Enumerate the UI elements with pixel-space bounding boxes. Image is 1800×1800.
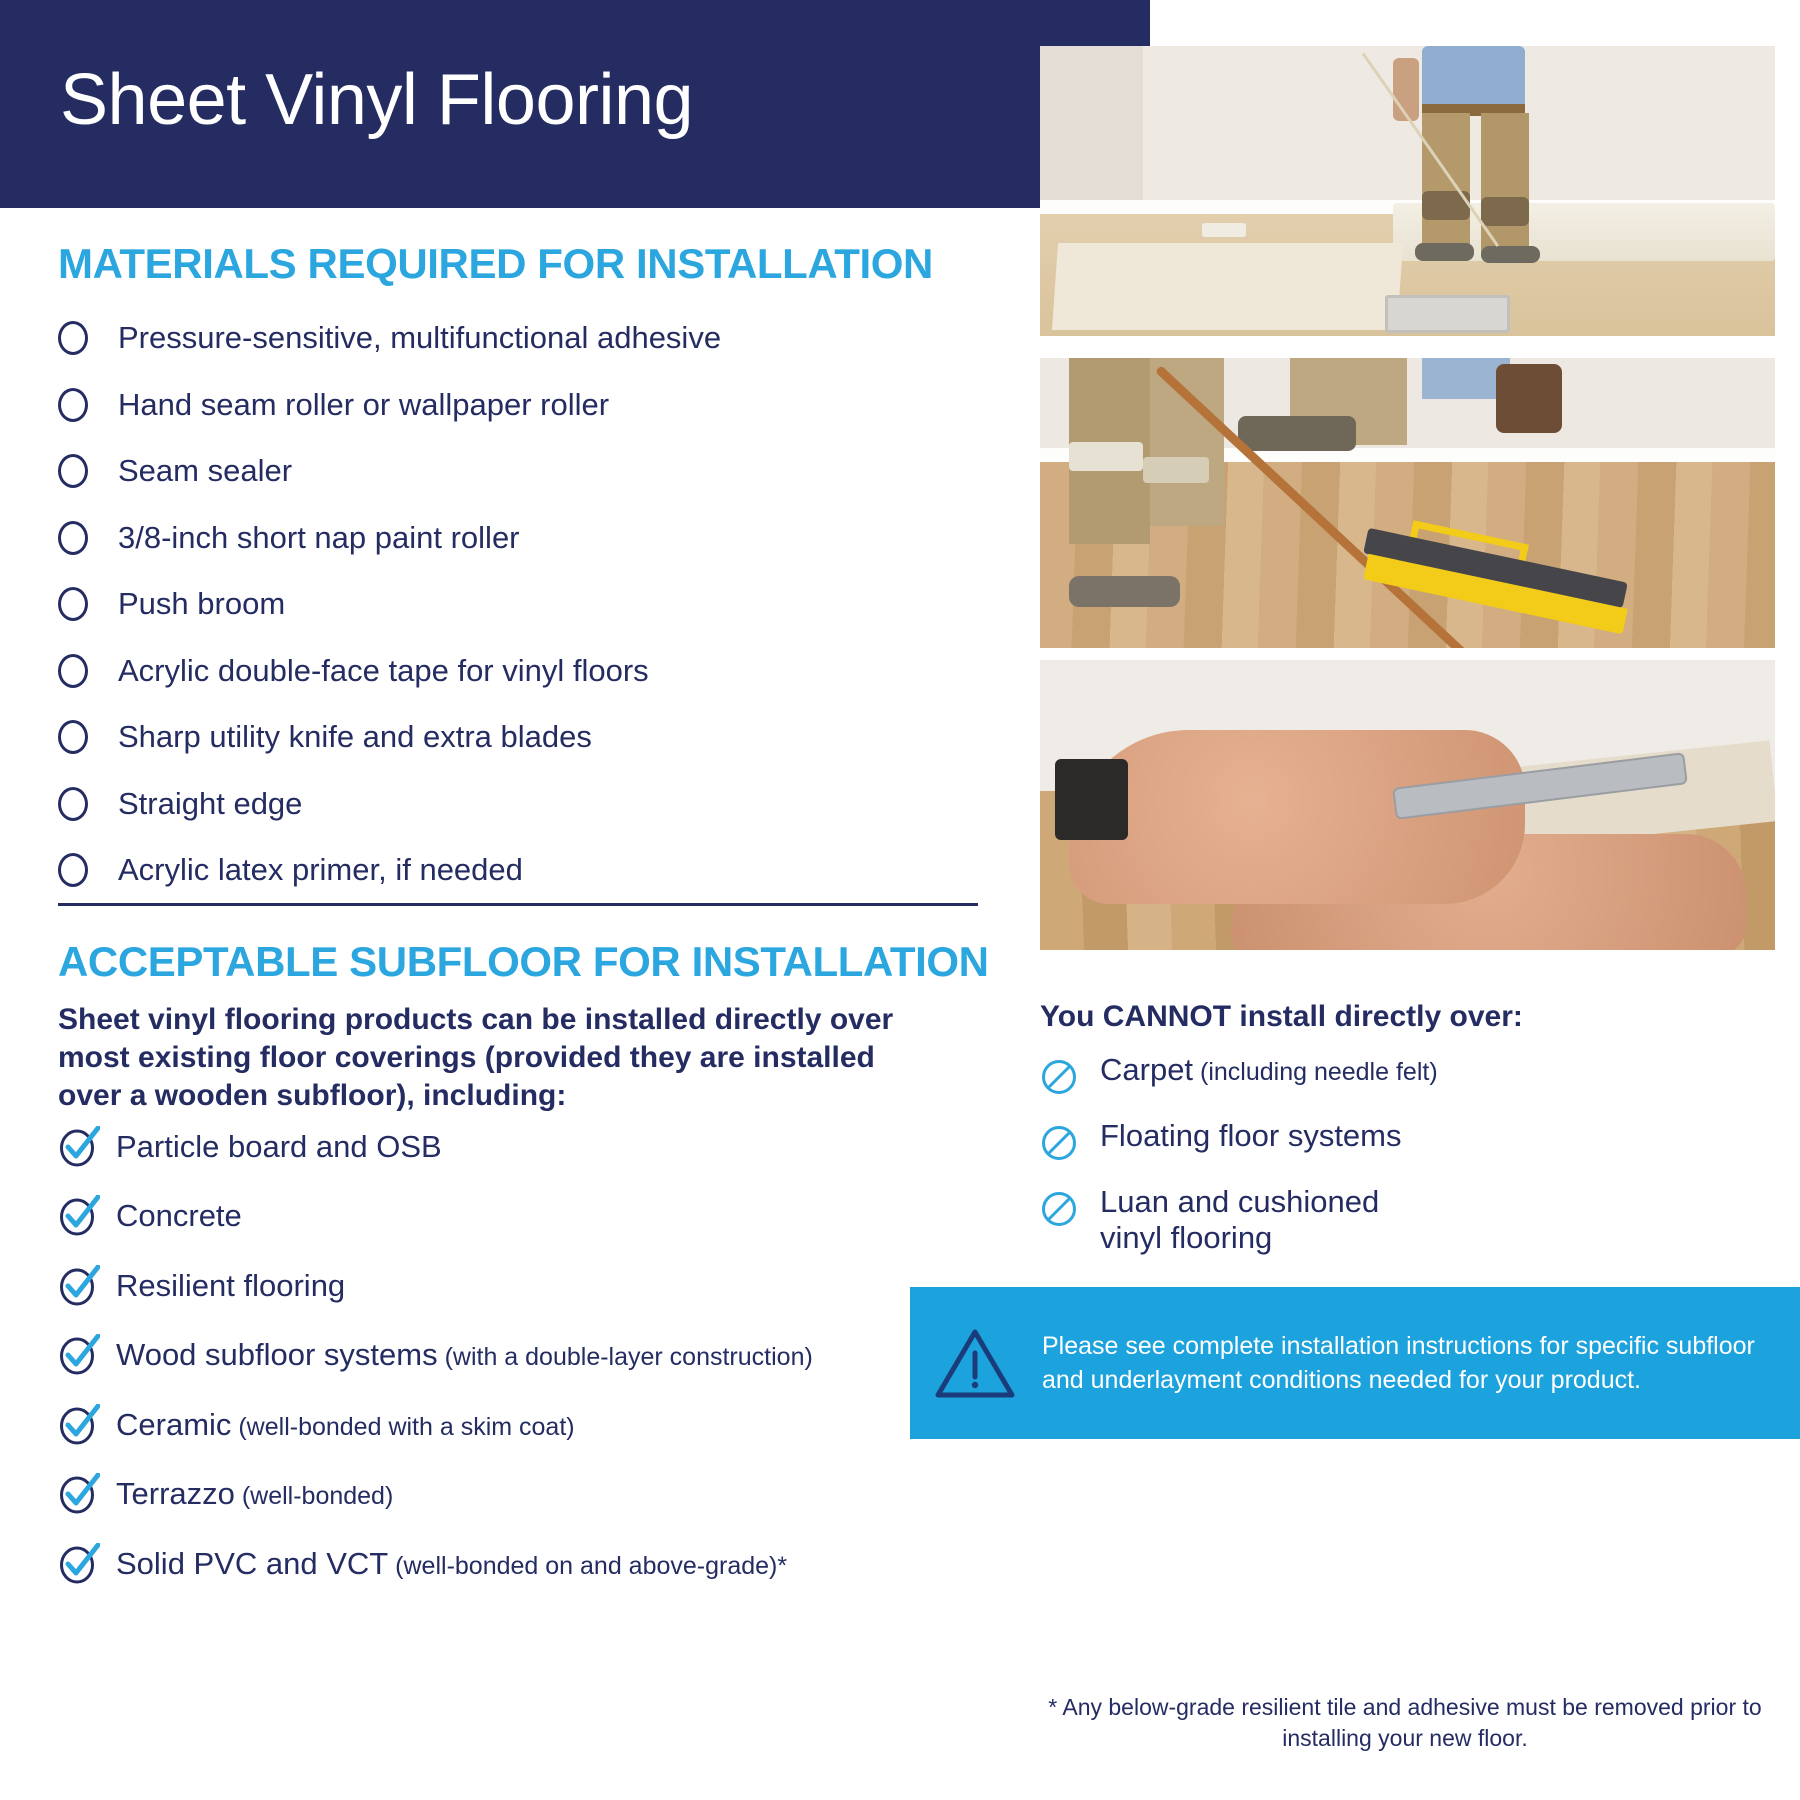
empty-circle-icon[interactable] bbox=[58, 654, 88, 688]
check-circle-icon bbox=[58, 1473, 100, 1515]
list-item[interactable]: Hand seam roller or wallpaper roller bbox=[58, 372, 988, 439]
list-item-note: (well-bonded) bbox=[235, 1482, 393, 1510]
empty-circle-icon[interactable] bbox=[58, 720, 88, 754]
prohibited-icon bbox=[1040, 1124, 1078, 1162]
empty-circle-icon[interactable] bbox=[58, 853, 88, 887]
cannot-install-heading: You CANNOT install directly over: bbox=[1040, 1000, 1523, 1034]
empty-circle-icon[interactable] bbox=[58, 321, 88, 355]
list-item-label: Wood subfloor systems bbox=[116, 1337, 438, 1372]
list-item-label: 3/8-inch short nap paint roller bbox=[118, 520, 520, 556]
subfloor-section-heading: ACCEPTABLE SUBFLOOR FOR INSTALLATION bbox=[58, 938, 989, 986]
list-item-label: Particle board and OSB bbox=[116, 1129, 442, 1164]
list-item-label: Luan and cushioned vinyl flooring bbox=[1100, 1184, 1379, 1255]
list-item: Wood subfloor systems (with a double-lay… bbox=[58, 1321, 998, 1391]
list-item-label: Pressure-sensitive, multifunctional adhe… bbox=[118, 320, 721, 356]
list-item[interactable]: Acrylic latex primer, if needed bbox=[58, 837, 988, 904]
list-item: Carpet (including needle felt) bbox=[1040, 1052, 1780, 1110]
list-item[interactable]: Acrylic double-face tape for vinyl floor… bbox=[58, 638, 988, 705]
list-item-label: Terrazzo bbox=[116, 1476, 235, 1511]
list-item-label: Acrylic latex primer, if needed bbox=[118, 852, 523, 888]
empty-circle-icon[interactable] bbox=[58, 787, 88, 821]
infographic-page: Sheet Vinyl Flooring MATERIALS REQUIRED … bbox=[0, 0, 1800, 1800]
empty-circle-icon[interactable] bbox=[58, 388, 88, 422]
page-title: Sheet Vinyl Flooring bbox=[60, 64, 693, 136]
prohibited-icon bbox=[1040, 1190, 1078, 1228]
check-circle-icon bbox=[58, 1126, 100, 1168]
subfloor-list: Particle board and OSB Concrete Resilien… bbox=[58, 1112, 998, 1599]
list-item-label: Push broom bbox=[118, 586, 285, 622]
list-item[interactable]: Sharp utility knife and extra blades bbox=[58, 704, 988, 771]
list-item-label: Hand seam roller or wallpaper roller bbox=[118, 387, 609, 423]
check-circle-icon bbox=[58, 1334, 100, 1376]
list-item: Terrazzo (well-bonded) bbox=[58, 1460, 998, 1530]
footnote: * Any below-grade resilient tile and adh… bbox=[1040, 1692, 1770, 1755]
list-item-label: Seam sealer bbox=[118, 453, 292, 489]
empty-circle-icon[interactable] bbox=[58, 587, 88, 621]
list-item: Luan and cushioned vinyl flooring bbox=[1040, 1184, 1780, 1256]
list-item-label: Acrylic double-face tape for vinyl floor… bbox=[118, 653, 649, 689]
list-item[interactable]: Push broom bbox=[58, 571, 988, 638]
list-item[interactable]: Seam sealer bbox=[58, 438, 988, 505]
list-item[interactable]: Pressure-sensitive, multifunctional adhe… bbox=[58, 305, 988, 372]
list-item-note: (including needle felt) bbox=[1193, 1058, 1438, 1086]
list-item-note: (with a double-layer construction) bbox=[438, 1343, 813, 1371]
list-item-note: (well-bonded on and above-grade)* bbox=[388, 1552, 787, 1580]
list-item-label: Floating floor systems bbox=[1100, 1118, 1402, 1153]
warning-triangle-icon bbox=[934, 1325, 1016, 1401]
list-item: Particle board and OSB bbox=[58, 1112, 998, 1182]
photo-push-broom-on-vinyl-floor bbox=[1040, 358, 1775, 648]
list-item-label: Solid PVC and VCT bbox=[116, 1546, 388, 1581]
list-item-label: Carpet bbox=[1100, 1052, 1193, 1087]
list-item: Resilient flooring bbox=[58, 1251, 998, 1321]
photo-trimming-vinyl-with-utility-knife bbox=[1040, 660, 1775, 950]
check-circle-icon bbox=[58, 1404, 100, 1446]
list-item: Floating floor systems bbox=[1040, 1118, 1780, 1176]
section-divider bbox=[58, 903, 978, 906]
materials-checklist: Pressure-sensitive, multifunctional adhe… bbox=[58, 305, 988, 904]
list-item-label: Concrete bbox=[116, 1198, 242, 1233]
list-item[interactable]: 3/8-inch short nap paint roller bbox=[58, 505, 988, 572]
photo-applying-adhesive-with-roller bbox=[1040, 46, 1775, 336]
subfloor-intro-text: Sheet vinyl flooring products can be ins… bbox=[58, 1001, 908, 1114]
list-item-label: Sharp utility knife and extra blades bbox=[118, 719, 592, 755]
empty-circle-icon[interactable] bbox=[58, 454, 88, 488]
list-item-note: (well-bonded with a skim coat) bbox=[231, 1413, 574, 1441]
list-item-label: Resilient flooring bbox=[116, 1268, 345, 1303]
check-circle-icon bbox=[58, 1195, 100, 1237]
list-item: Solid PVC and VCT (well-bonded on and ab… bbox=[58, 1529, 998, 1599]
list-item: Concrete bbox=[58, 1182, 998, 1252]
materials-section-heading: MATERIALS REQUIRED FOR INSTALLATION bbox=[58, 240, 933, 288]
prohibited-icon bbox=[1040, 1058, 1078, 1096]
list-item-label: Ceramic bbox=[116, 1407, 231, 1442]
list-item: Ceramic (well-bonded with a skim coat) bbox=[58, 1390, 998, 1460]
check-circle-icon bbox=[58, 1543, 100, 1585]
cannot-install-list: Carpet (including needle felt) Floating … bbox=[1040, 1052, 1780, 1264]
list-item-label: Straight edge bbox=[118, 786, 302, 822]
check-circle-icon bbox=[58, 1265, 100, 1307]
list-item[interactable]: Straight edge bbox=[58, 771, 988, 838]
empty-circle-icon[interactable] bbox=[58, 521, 88, 555]
installation-notice-banner: Please see complete installation instruc… bbox=[910, 1287, 1800, 1439]
installation-notice-text: Please see complete installation instruc… bbox=[1042, 1329, 1800, 1397]
